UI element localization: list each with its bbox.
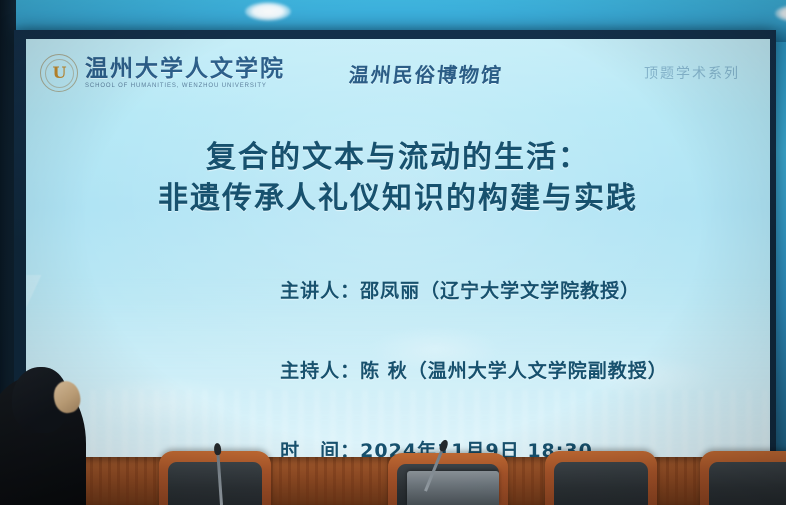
detail-speaker: 主讲人：邵凤丽（辽宁大学文学院教授） [204, 254, 770, 325]
title-line-1: 复合的文本与流动的生活： [26, 137, 770, 178]
detail-host: 主持人：陈 秋（温州大学人文学院副教授） [204, 334, 770, 405]
presentation-slide: U 温州大学人文学院 SCHOOL OF HUMANITIES, WENZHOU… [26, 39, 770, 460]
detail-label: 主持人： [280, 360, 360, 382]
seal-letter: U [53, 65, 66, 81]
lecture-hall-scene: U 温州大学人文学院 SCHOOL OF HUMANITIES, WENZHOU… [0, 0, 786, 505]
ceiling-light-icon [775, 5, 786, 22]
brand-name-en: SCHOOL OF HUMANITIES, WENZHOU UNIVERSITY [85, 83, 285, 89]
brand-name-cn: 温州大学人文学院 [85, 57, 285, 80]
laptop [407, 471, 499, 505]
projection-screen-bezel: U 温州大学人文学院 SCHOOL OF HUMANITIES, WENZHOU… [14, 30, 776, 470]
detail-label: 主讲人： [280, 280, 360, 302]
university-seal-icon: U [40, 54, 78, 92]
slide-title: 复合的文本与流动的生活： 非遗传承人礼仪知识的构建与实践 [26, 137, 770, 220]
series-label: 顶题学术系列 [644, 63, 754, 83]
chair [159, 451, 271, 505]
museum-name: 温州民俗博物馆 [347, 59, 504, 88]
chair [545, 451, 657, 505]
detail-value: 邵凤丽（辽宁大学文学院教授） [360, 280, 640, 302]
title-line-2: 非遗传承人礼仪知识的构建与实践 [26, 178, 770, 219]
ceiling-light-icon [245, 2, 291, 21]
slide-details: 主讲人：邵凤丽（辽宁大学文学院教授） 主持人：陈 秋（温州大学人文学院副教授） … [26, 254, 770, 460]
university-brand: U 温州大学人文学院 SCHOOL OF HUMANITIES, WENZHOU… [40, 54, 285, 92]
chair [700, 451, 786, 505]
slide-header: U 温州大学人文学院 SCHOOL OF HUMANITIES, WENZHOU… [26, 39, 770, 101]
audience-person-silhouette [0, 355, 100, 505]
brand-names: 温州大学人文学院 SCHOOL OF HUMANITIES, WENZHOU U… [85, 57, 285, 89]
detail-value: 陈 秋（温州大学人文学院副教授） [360, 360, 668, 382]
